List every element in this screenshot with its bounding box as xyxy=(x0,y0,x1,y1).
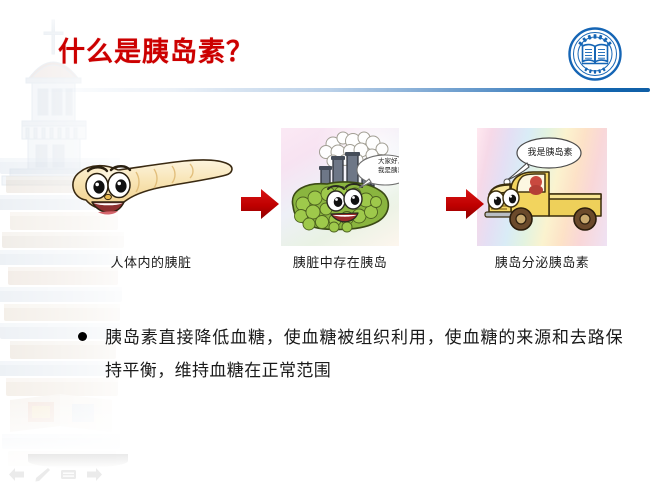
body-bullet-text: 胰岛素直接降低血糖，使血糖被组织利用，使血糖的来源和去路保持平衡，维持血糖在正常… xyxy=(105,322,623,388)
arrow-left-icon[interactable] xyxy=(8,467,25,482)
open-book-icon xyxy=(582,45,608,64)
cartoon-yellow-truck-icon xyxy=(477,128,607,246)
illustration-row: 人体内的胰脏 xyxy=(0,128,650,278)
pen-icon[interactable] xyxy=(34,467,51,482)
panel-pancreas: 人体内的胰脏 xyxy=(62,128,240,246)
slide-title: 什么是胰岛素？ xyxy=(58,30,254,69)
menu-icon[interactable] xyxy=(60,467,77,482)
panel-insulin: 我是胰岛素 胰岛分泌胰岛素 xyxy=(477,128,607,246)
arrow-right-icon[interactable] xyxy=(86,467,103,482)
panel-islets: 大家好， 我是胰岛 胰脏中存在胰岛 xyxy=(281,128,399,246)
university-seal-logo xyxy=(568,27,622,81)
presentation-slide: 什么是胰岛素？ xyxy=(0,0,650,488)
arrow-pancreas-to-islets-icon xyxy=(240,187,280,221)
truck-bubble-text: 我是胰岛素 xyxy=(519,147,581,159)
presentation-control-bar[interactable] xyxy=(8,467,103,482)
islets-bubble-text: 大家好， 我是胰岛 xyxy=(361,157,399,175)
bullet-marker-icon xyxy=(78,332,87,341)
insulin-truck-image: 我是胰岛素 xyxy=(477,128,607,246)
panel-insulin-caption: 胰岛分泌胰岛素 xyxy=(477,252,607,271)
cartoon-pancreas-icon xyxy=(62,128,240,246)
panel-islets-caption: 胰脏中存在胰岛 xyxy=(281,252,399,271)
control-bar-shadow xyxy=(28,454,128,468)
cartoon-islet-cells-factory-icon xyxy=(281,128,399,246)
arrow-islets-to-insulin-icon xyxy=(445,187,485,221)
header-divider-rule xyxy=(36,88,650,92)
pancreas-image xyxy=(62,128,240,246)
islets-image: 大家好， 我是胰岛 xyxy=(281,128,399,246)
watermark-top-fade xyxy=(0,0,150,30)
body-bullet-block: 胰岛素直接降低血糖，使血糖被组织利用，使血糖的来源和去路保持平衡，维持血糖在正常… xyxy=(78,322,623,388)
panel-pancreas-caption: 人体内的胰脏 xyxy=(62,252,240,271)
